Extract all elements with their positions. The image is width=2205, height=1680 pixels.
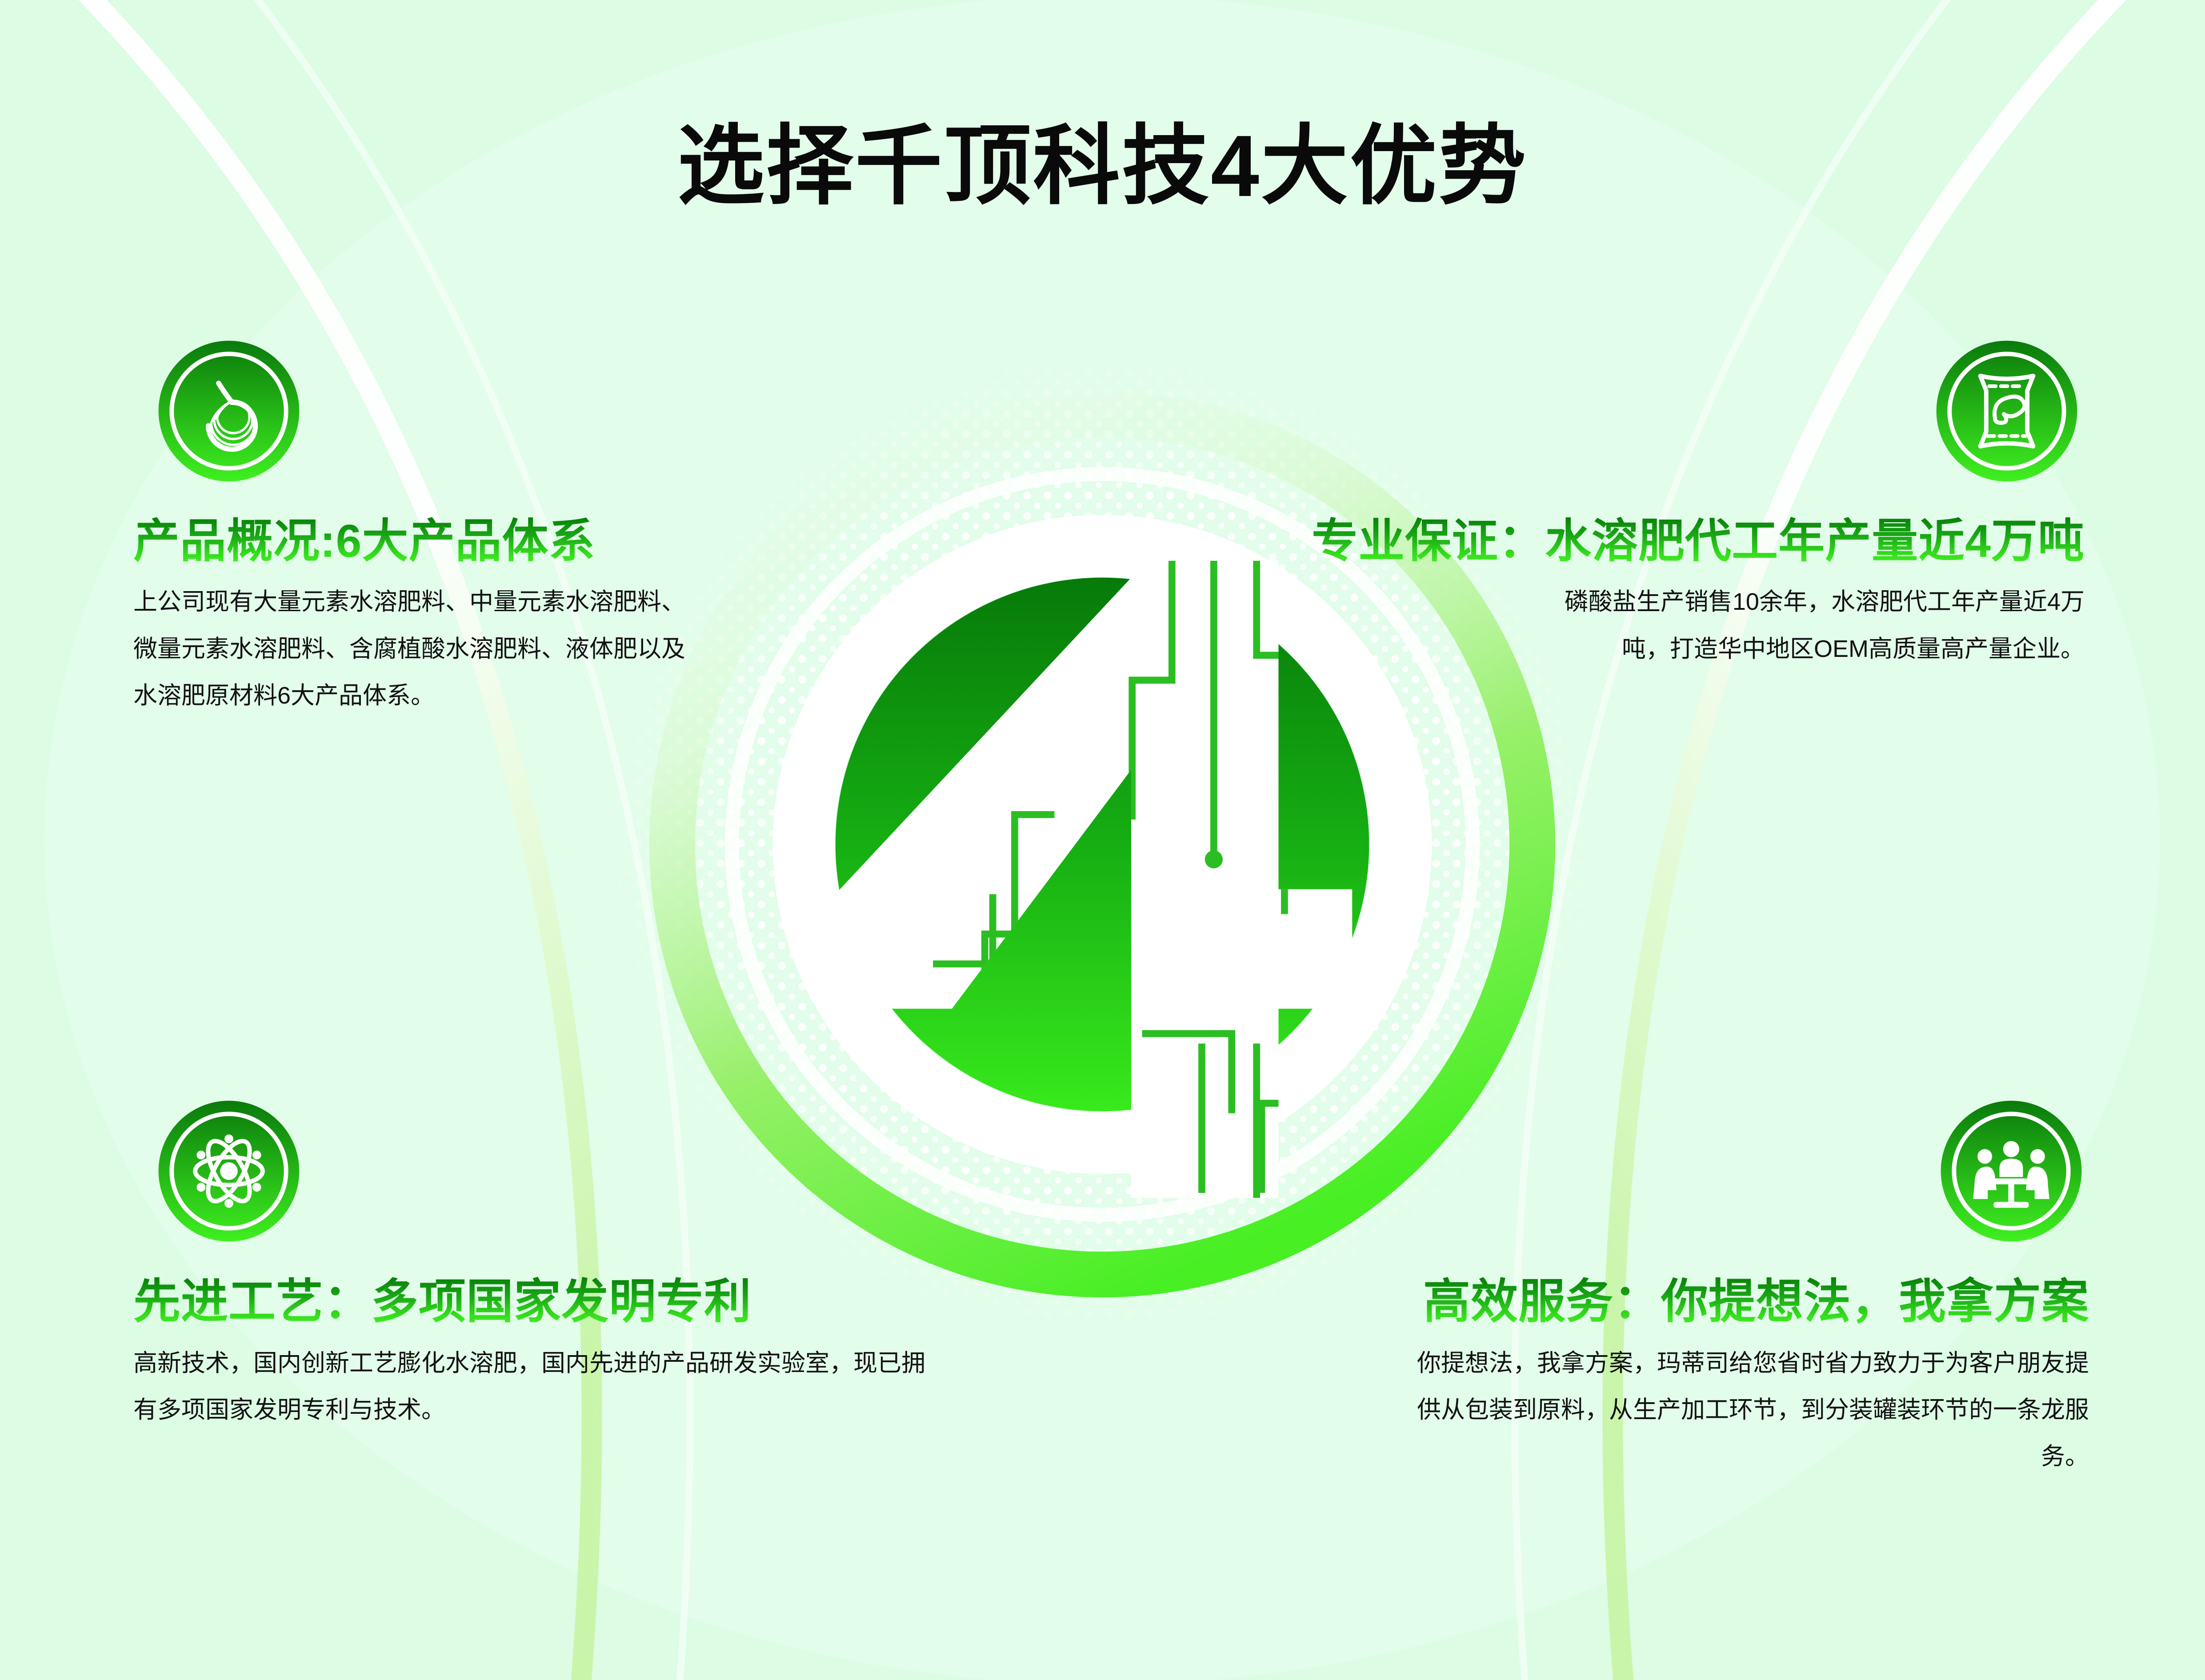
advantage-text-bottom-right: 高效服务：你提想法，我拿方案 你提想法，我拿方案，玛蒂司给您省时省力致力于为客户… (1293, 1276, 2089, 1480)
advantage-title: 专业保证：水溶肥代工年产量近4万吨 (1196, 516, 2085, 567)
center-emblem (604, 347, 1600, 1342)
advantage-text-top-left: 产品概况:6大产品体系 上公司现有大量元素水溶肥料、中量元素水溶肥料、微量元素水… (133, 516, 707, 719)
advantage-title: 高效服务：你提想法，我拿方案 (1293, 1276, 2089, 1328)
number-six-rings-icon (156, 338, 302, 484)
advantage-text-bottom-left: 先进工艺：多项国家发明专利 高新技术，国内创新工艺膨化水溶肥，国内先进的产品研发… (133, 1276, 929, 1433)
advantage-title: 先进工艺：多项国家发明专利 (133, 1276, 929, 1328)
atom-icon (156, 1098, 302, 1244)
meeting-people-icon (1938, 1098, 2085, 1244)
advantage-body: 你提想法，我拿方案，玛蒂司给您省时省力致力于为客户朋友提供从包装到原料，从生产加… (1396, 1340, 2089, 1480)
advantage-text-top-right: 专业保证：水溶肥代工年产量近4万吨 磷酸盐生产销售10余年，水溶肥代工年产量近4… (1196, 516, 2085, 672)
advantage-body: 磷酸盐生产销售10余年，水溶肥代工年产量近4万吨，打造华中地区OEM高质量高产量… (1551, 579, 2085, 672)
page-title: 选择千顶科技4大优势 (0, 96, 2205, 221)
advantage-body: 高新技术，国内创新工艺膨化水溶肥，国内先进的产品研发实验室，现已拥有多项国家发明… (133, 1340, 929, 1434)
advantage-body: 上公司现有大量元素水溶肥料、中量元素水溶肥料、微量元素水溶肥料、含腐植酸水溶肥料… (133, 579, 707, 719)
center-emblem-svg (604, 347, 1600, 1342)
infographic-canvas: 选择千顶科技4大优势 (0, 0, 2205, 1680)
fertilizer-bag-icon (1933, 338, 2080, 484)
advantage-title: 产品概况:6大产品体系 (133, 516, 707, 567)
